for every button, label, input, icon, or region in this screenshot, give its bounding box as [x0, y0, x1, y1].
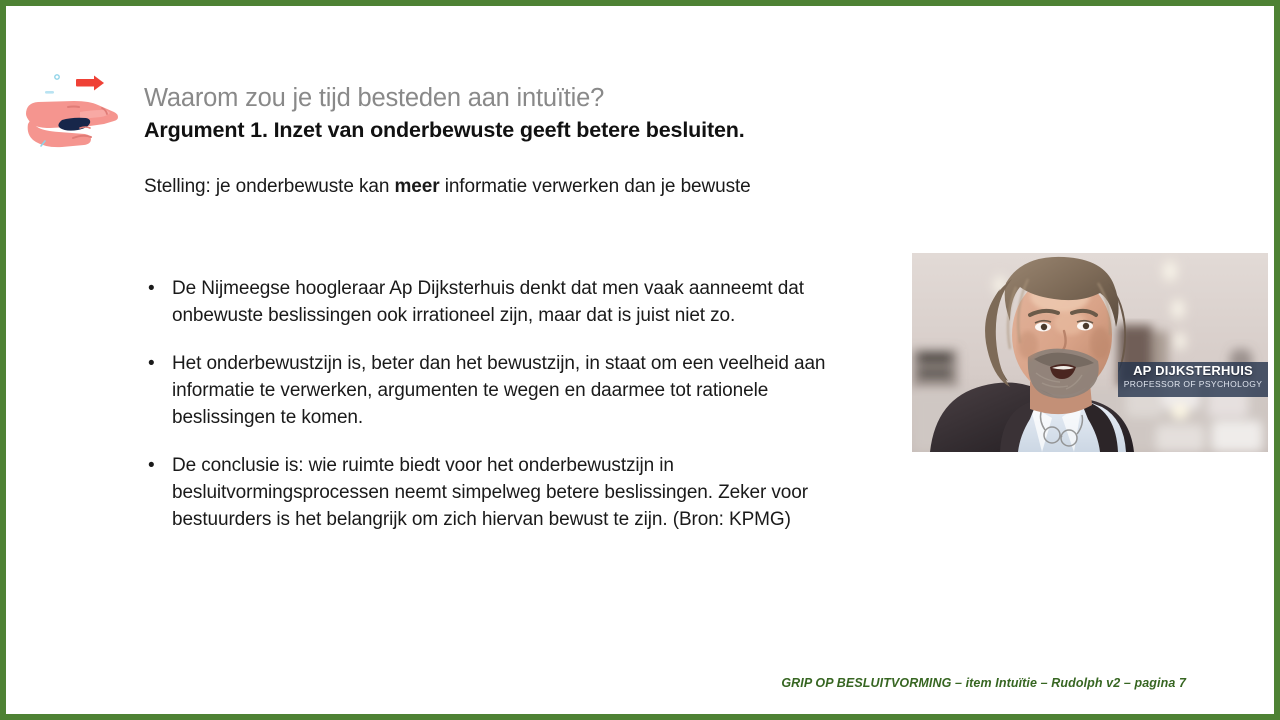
slide-footer: GRIP OP BESLUITVORMING – item Intuïtie –… [781, 676, 1186, 690]
page-title: Argument 1. Inzet van onderbewuste geeft… [144, 118, 904, 144]
statement-before: Stelling: je onderbewuste kan [144, 176, 395, 197]
statement-after: informatie verwerken dan je bewuste [440, 176, 751, 197]
interview-photo-ap-dijksterhuis: AP DIJKSTERHUIS PROFESSOR OF PSYCHOLOGY [912, 253, 1268, 452]
list-item: • De conclusie is: wie ruimte biedt voor… [144, 453, 866, 534]
bullet-marker-icon: • [148, 276, 155, 303]
list-item-text: De Nijmeegse hoogleraar Ap Dijksterhuis … [172, 278, 804, 326]
bullet-marker-icon: • [148, 453, 155, 480]
bullet-marker-icon: • [148, 351, 155, 378]
list-item-text: De conclusie is: wie ruimte biedt voor h… [172, 455, 808, 530]
slide: Waarom zou je tijd besteden aan intuïtie… [0, 0, 1280, 720]
caption-person-name: AP DIJKSTERHUIS [1118, 364, 1268, 379]
statement-emphasis: meer [395, 176, 440, 197]
list-item: • Het onderbewustzijn is, beter dan het … [144, 351, 866, 432]
list-item: • De Nijmeegse hoogleraar Ap Dijksterhui… [144, 276, 866, 330]
statement-text: Stelling: je onderbewuste kan meer infor… [144, 174, 804, 201]
caption-person-role: PROFESSOR OF PSYCHOLOGY [1118, 379, 1268, 390]
list-item-text: Het onderbewustzijn is, beter dan het be… [172, 353, 825, 428]
bullet-list: • De Nijmeegse hoogleraar Ap Dijksterhui… [144, 276, 866, 534]
photo-image [912, 253, 1268, 452]
slide-header: Waarom zou je tijd besteden aan intuïtie… [144, 84, 904, 144]
pointing-hand-icon [18, 64, 122, 160]
title-kicker: Waarom zou je tijd besteden aan intuïtie… [144, 84, 904, 114]
photo-caption-overlay: AP DIJKSTERHUIS PROFESSOR OF PSYCHOLOGY [1118, 362, 1268, 397]
